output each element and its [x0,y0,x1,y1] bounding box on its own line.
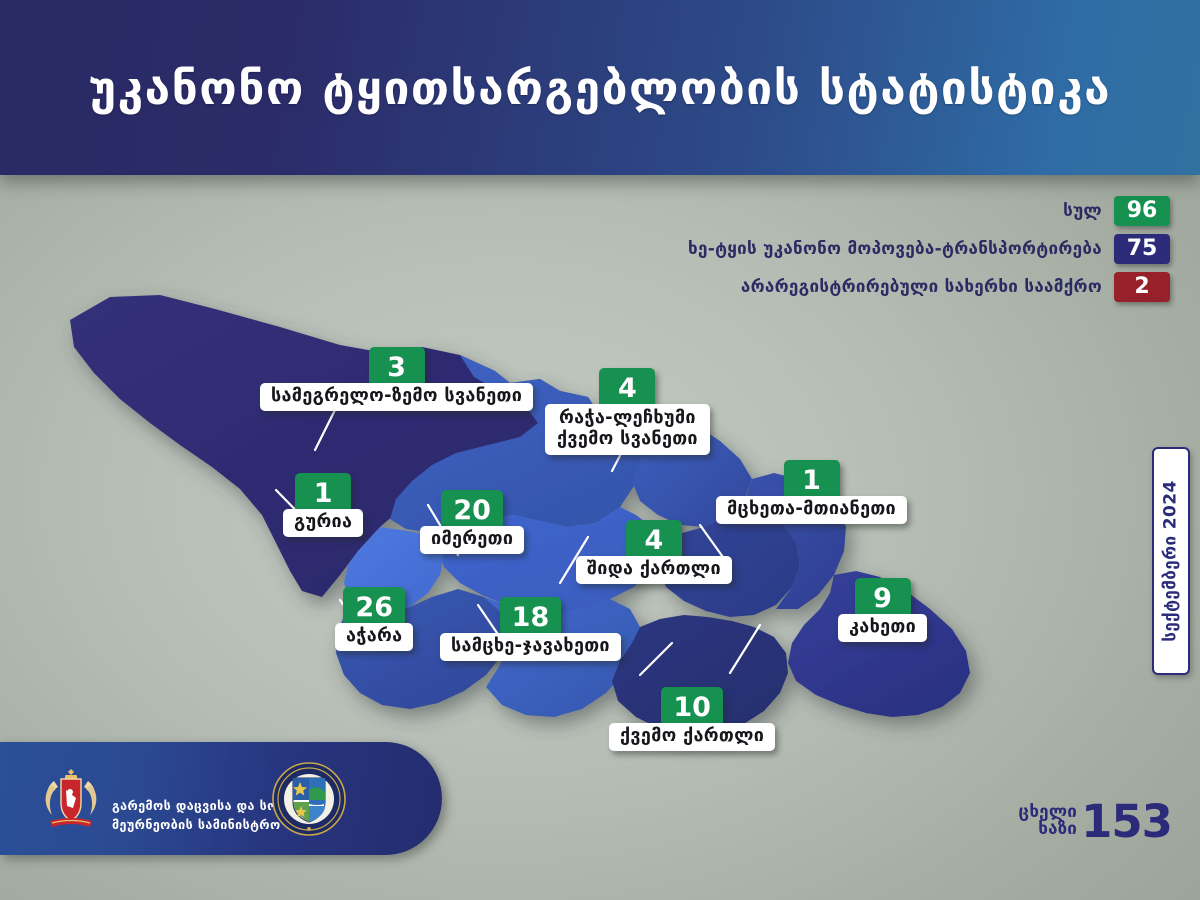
legend-label-sawmill: არარეგისტრირებული სახერხი საამქრო [741,277,1102,297]
callout-label: აჭარა [335,623,413,651]
callout-count: 18 [500,597,562,637]
hotline-label: ცხელი ხაზი [1019,804,1078,838]
legend-label-logging: ხე-ტყის უკანონო მოპოვება-ტრანსპორტირება [688,239,1102,259]
legend-row-sawmill: არარეგისტრირებული სახერხი საამქრო 2 [741,272,1170,302]
callout-shida-kartli[interactable]: 4 შიდა ქართლი [576,520,732,584]
hotline-number: 153 [1081,801,1172,842]
callout-count: 9 [855,578,911,618]
callout-label: ქვემო ქართლი [609,723,775,751]
callout-label: იმერეთი [420,526,524,554]
callout-label: სამცხე-ჯავახეთი [440,633,621,661]
callout-label: გურია [283,509,363,537]
callout-count: 4 [599,368,655,408]
callout-count: 26 [343,587,405,627]
legend: სულ 96 ხე-ტყის უკანონო მოპოვება-ტრანსპორ… [688,196,1170,302]
callout-mtskheta-mtianeti[interactable]: 1 მცხეთა-მთიანეთი [716,460,907,524]
callout-label: შიდა ქართლი [576,556,732,584]
callout-samegrelo-zemo-svaneti[interactable]: 3 სამეგრელო-ზემო სვანეთი [260,347,533,411]
legend-row-total: სულ 96 [1063,196,1170,226]
callout-samtskhe-javakheti[interactable]: 18 სამცხე-ჯავახეთი [440,597,621,661]
hotline: ცხელი ხაზი 153 [1019,801,1172,842]
callout-label: სამეგრელო-ზემო სვანეთი [260,383,533,411]
callout-guria[interactable]: 1 გურია [283,473,363,537]
callout-label: კახეთი [838,614,927,642]
date-tab-label: სექტემბერი 2024 [1161,480,1181,641]
callout-count: 4 [626,520,682,560]
callout-imereti[interactable]: 20 იმერეთი [420,490,524,554]
legend-row-logging: ხე-ტყის უკანონო მოპოვება-ტრანსპორტირება … [688,234,1170,264]
legend-chip-total: 96 [1114,196,1170,226]
georgia-coat-of-arms-icon [40,765,102,833]
callout-count: 1 [295,473,351,513]
callout-count: 1 [784,460,840,500]
legend-label-total: სულ [1063,201,1102,221]
ministry-badge: გარემოს დაცვისა და სოფლის მეურნეობის სამ… [0,742,442,855]
agency-seal-icon [272,762,346,836]
legend-chip-logging: 75 [1114,234,1170,264]
callout-adjara[interactable]: 26 აჭარა [335,587,413,651]
page-header: უკანონო ტყითსარგებლობის სტატისტიკა [0,0,1200,175]
legend-chip-sawmill: 2 [1114,272,1170,302]
callout-racha-lechkhumi-kvemo-svaneti[interactable]: 4 რაჭა-ლეჩხუმი ქვემო სვანეთი [545,368,710,455]
callout-count: 10 [661,687,723,727]
callout-label: რაჭა-ლეჩხუმი ქვემო სვანეთი [545,404,710,455]
callout-kakheti[interactable]: 9 კახეთი [838,578,927,642]
callout-label: მცხეთა-მთიანეთი [716,496,907,524]
callout-count: 20 [441,490,503,530]
callout-kvemo-kartli[interactable]: 10 ქვემო ქართლი [609,687,775,751]
callout-count: 3 [369,347,425,387]
date-tab: სექტემბერი 2024 [1152,447,1190,675]
page-title: უკანონო ტყითსარგებლობის სტატისტიკა [89,65,1111,111]
